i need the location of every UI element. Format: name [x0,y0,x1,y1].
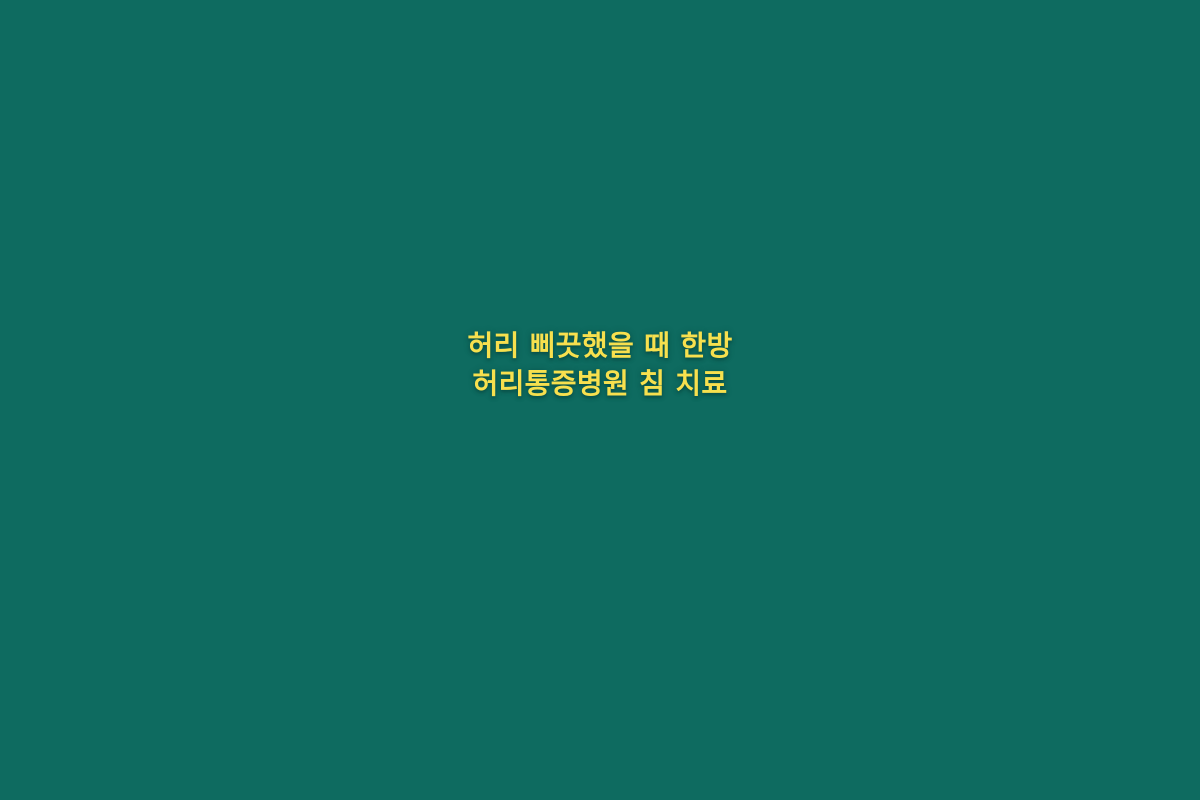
headline-line-1: 허리 삐끗했을 때 한방 [0,327,1200,365]
headline-block: 허리 삐끗했을 때 한방 허리통증병원 침 치료 [0,327,1200,402]
headline-line-2: 허리통증병원 침 치료 [0,365,1200,403]
banner-canvas: 허리 삐끗했을 때 한방 허리통증병원 침 치료 [0,0,1200,800]
